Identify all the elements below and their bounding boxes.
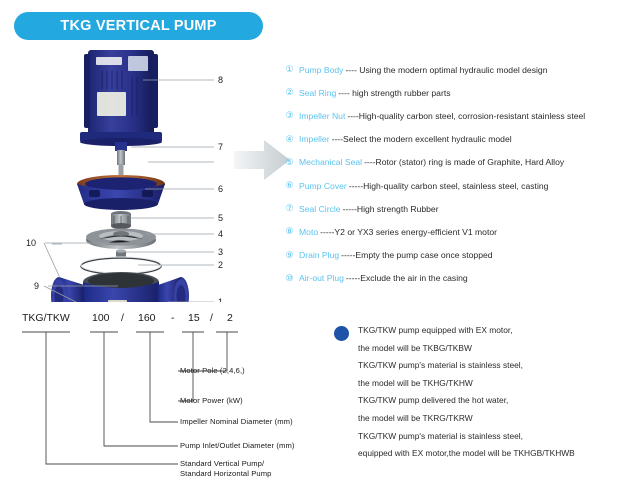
list-item-desc: ---- high strength rubber parts: [338, 88, 450, 98]
breakdown-label-motor-power: Motor Power (kW): [180, 396, 243, 405]
list-item-desc: -----Empty the pump case once stopped: [341, 250, 492, 260]
code-token-dash: -: [171, 312, 175, 324]
code-token-power: 15: [188, 312, 200, 324]
list-item-desc: ----High-quality carbon steel, corrosion…: [347, 111, 585, 121]
page-title: TKG VERTICAL PUMP: [60, 18, 216, 34]
list-item-number: ③: [284, 110, 295, 121]
left-callout-lines: [18, 44, 250, 302]
list-item: ⑦ Seal Circle -----High strength Rubber: [284, 197, 617, 220]
breakdown-label-impeller-dia: Impeller Nominal Diameter (mm): [180, 417, 293, 426]
list-item-number: ①: [284, 64, 295, 75]
model-variants-note: TKG/TKW pump equipped with EX motor, the…: [334, 322, 617, 463]
list-item-number: ⑤: [284, 157, 295, 168]
list-item-number: ②: [284, 87, 295, 98]
list-item: ③ Impeller Nut ----High-quality carbon s…: [284, 104, 617, 127]
list-item-desc: -----High-quality carbon steel, stainles…: [349, 181, 549, 191]
list-item: ⑤ Mechanical Seal ----Rotor (stator) rin…: [284, 151, 617, 174]
list-item: ④ Impeller ----Select the modern excelle…: [284, 128, 617, 151]
list-item: ⑥ Pump Cover -----High-quality carbon st…: [284, 174, 617, 197]
list-item: ⑩ Air-out Plug -----Exclude the air in t…: [284, 267, 617, 290]
list-item-name: Drain Plug: [299, 250, 339, 260]
list-item-name: Impeller Nut: [299, 111, 345, 121]
list-item-number: ④: [284, 134, 295, 145]
breakdown-label-standard-v: Standard Vertical Pump/: [180, 459, 264, 468]
list-item-name: Pump Cover: [299, 181, 347, 191]
code-token-pole: 2: [227, 312, 233, 324]
list-item-name: Seal Ring: [299, 88, 336, 98]
product-spec-sheet: TKG VERTICAL PUMP: [0, 0, 617, 500]
code-token-slash-1: /: [121, 312, 124, 324]
variant-line: the model will be TKHG/TKHW: [334, 375, 617, 393]
list-item-number: ⑦: [284, 203, 295, 214]
code-token-slash-2: /: [210, 312, 213, 324]
variant-line: TKG/TKW pump's material is stainless ste…: [334, 428, 617, 446]
breakdown-label-standard-h: Standard Horizontal Pump: [180, 469, 271, 478]
list-item-name: Pump Body: [299, 65, 343, 75]
code-token-inlet: 100: [92, 312, 110, 324]
list-item-desc: ----Rotor (stator) ring is made of Graph…: [364, 157, 564, 167]
list-item-desc: ----Select the modern excellent hydrauli…: [332, 134, 512, 144]
list-item-name: Seal Circle: [299, 204, 341, 214]
list-item-number: ⑩: [284, 273, 295, 284]
parts-legend-list: ① Pump Body ---- Using the modern optima…: [284, 58, 617, 290]
list-item-desc: -----Y2 or YX3 series energy-efficient V…: [320, 227, 497, 237]
right-arrow-icon: [232, 136, 292, 184]
list-item-name: Moto: [299, 227, 318, 237]
list-item: ⑧ Moto -----Y2 or YX3 series energy-effi…: [284, 220, 617, 243]
list-item: ⑨ Drain Plug -----Empty the pump case on…: [284, 244, 617, 267]
code-token-series: TKG/TKW: [22, 312, 70, 324]
list-item-number: ⑥: [284, 180, 295, 191]
variant-line: TKG/TKW pump delivered the hot water,: [334, 392, 617, 410]
model-code-breakdown: TKG/TKW 100 / 160 - 15 / 2 Motor Pole (2…: [8, 312, 328, 494]
breakdown-label-motor-pole: Motor Pole (2,4,6,): [180, 366, 245, 375]
list-item-name: Mechanical Seal: [299, 157, 362, 167]
variant-line: TKG/TKW pump's material is stainless ste…: [334, 357, 617, 375]
variant-line: the model will be TKRG/TKRW: [334, 410, 617, 428]
list-item: ① Pump Body ---- Using the modern optima…: [284, 58, 617, 81]
list-item-desc: ---- Using the modern optimal hydraulic …: [345, 65, 547, 75]
variant-line: the model will be TKBG/TKBW: [334, 340, 617, 358]
breakdown-label-inlet-dia: Pump Inlet/Outlet Diameter (mm): [180, 441, 295, 450]
page-title-banner: TKG VERTICAL PUMP: [14, 12, 263, 40]
list-item-desc: -----Exclude the air in the casing: [346, 273, 468, 283]
code-token-impeller: 160: [138, 312, 156, 324]
bullet-icon: [334, 326, 349, 341]
list-item: ② Seal Ring ---- high strength rubber pa…: [284, 81, 617, 104]
list-item-desc: -----High strength Rubber: [343, 204, 439, 214]
list-item-number: ⑨: [284, 250, 295, 261]
breakdown-lines: [8, 312, 328, 494]
list-item-name: Air-out Plug: [299, 273, 344, 283]
list-item-name: Impeller: [299, 134, 330, 144]
variant-line: TKG/TKW pump equipped with EX motor,: [334, 322, 617, 340]
variant-line: equipped with EX motor,the model will be…: [334, 445, 617, 463]
list-item-number: ⑧: [284, 226, 295, 237]
